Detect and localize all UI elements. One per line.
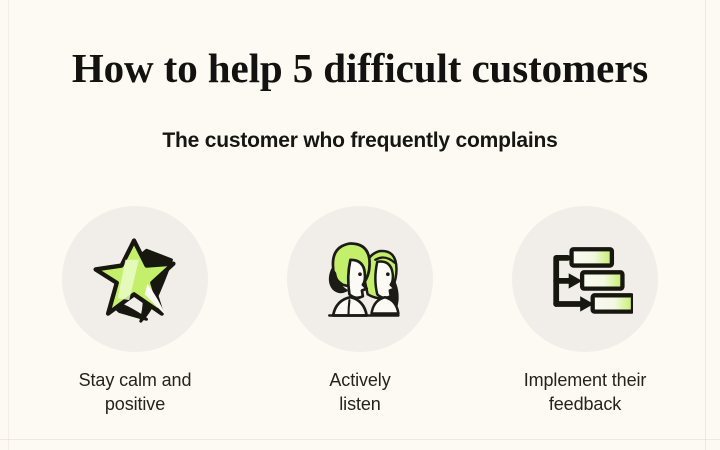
page-title: How to help 5 difficult customers [0, 44, 720, 92]
frame-edge-bottom [0, 439, 720, 440]
tip-card-actively-listen: Actively listen [255, 206, 465, 416]
tip-card-caption: Stay calm and positive [79, 368, 192, 416]
shooting-star-icon [87, 231, 183, 327]
icon-circle-3 [512, 206, 658, 352]
page-subtitle: The customer who frequently complains [0, 127, 720, 155]
two-people-listening-icon [312, 231, 408, 327]
tip-card-caption: Implement their feedback [524, 368, 647, 416]
icon-circle-2 [287, 206, 433, 352]
tip-card-stay-calm: Stay calm and positive [30, 206, 240, 416]
slide-canvas: How to help 5 difficult customers The cu… [0, 0, 720, 450]
tip-card-implement-feedback: Implement their feedback [480, 206, 690, 416]
icon-circle-1 [62, 206, 208, 352]
tip-card-caption: Actively listen [329, 368, 390, 416]
flowchart-bars-icon [537, 231, 633, 327]
tips-row: Stay calm and positive [30, 206, 690, 416]
